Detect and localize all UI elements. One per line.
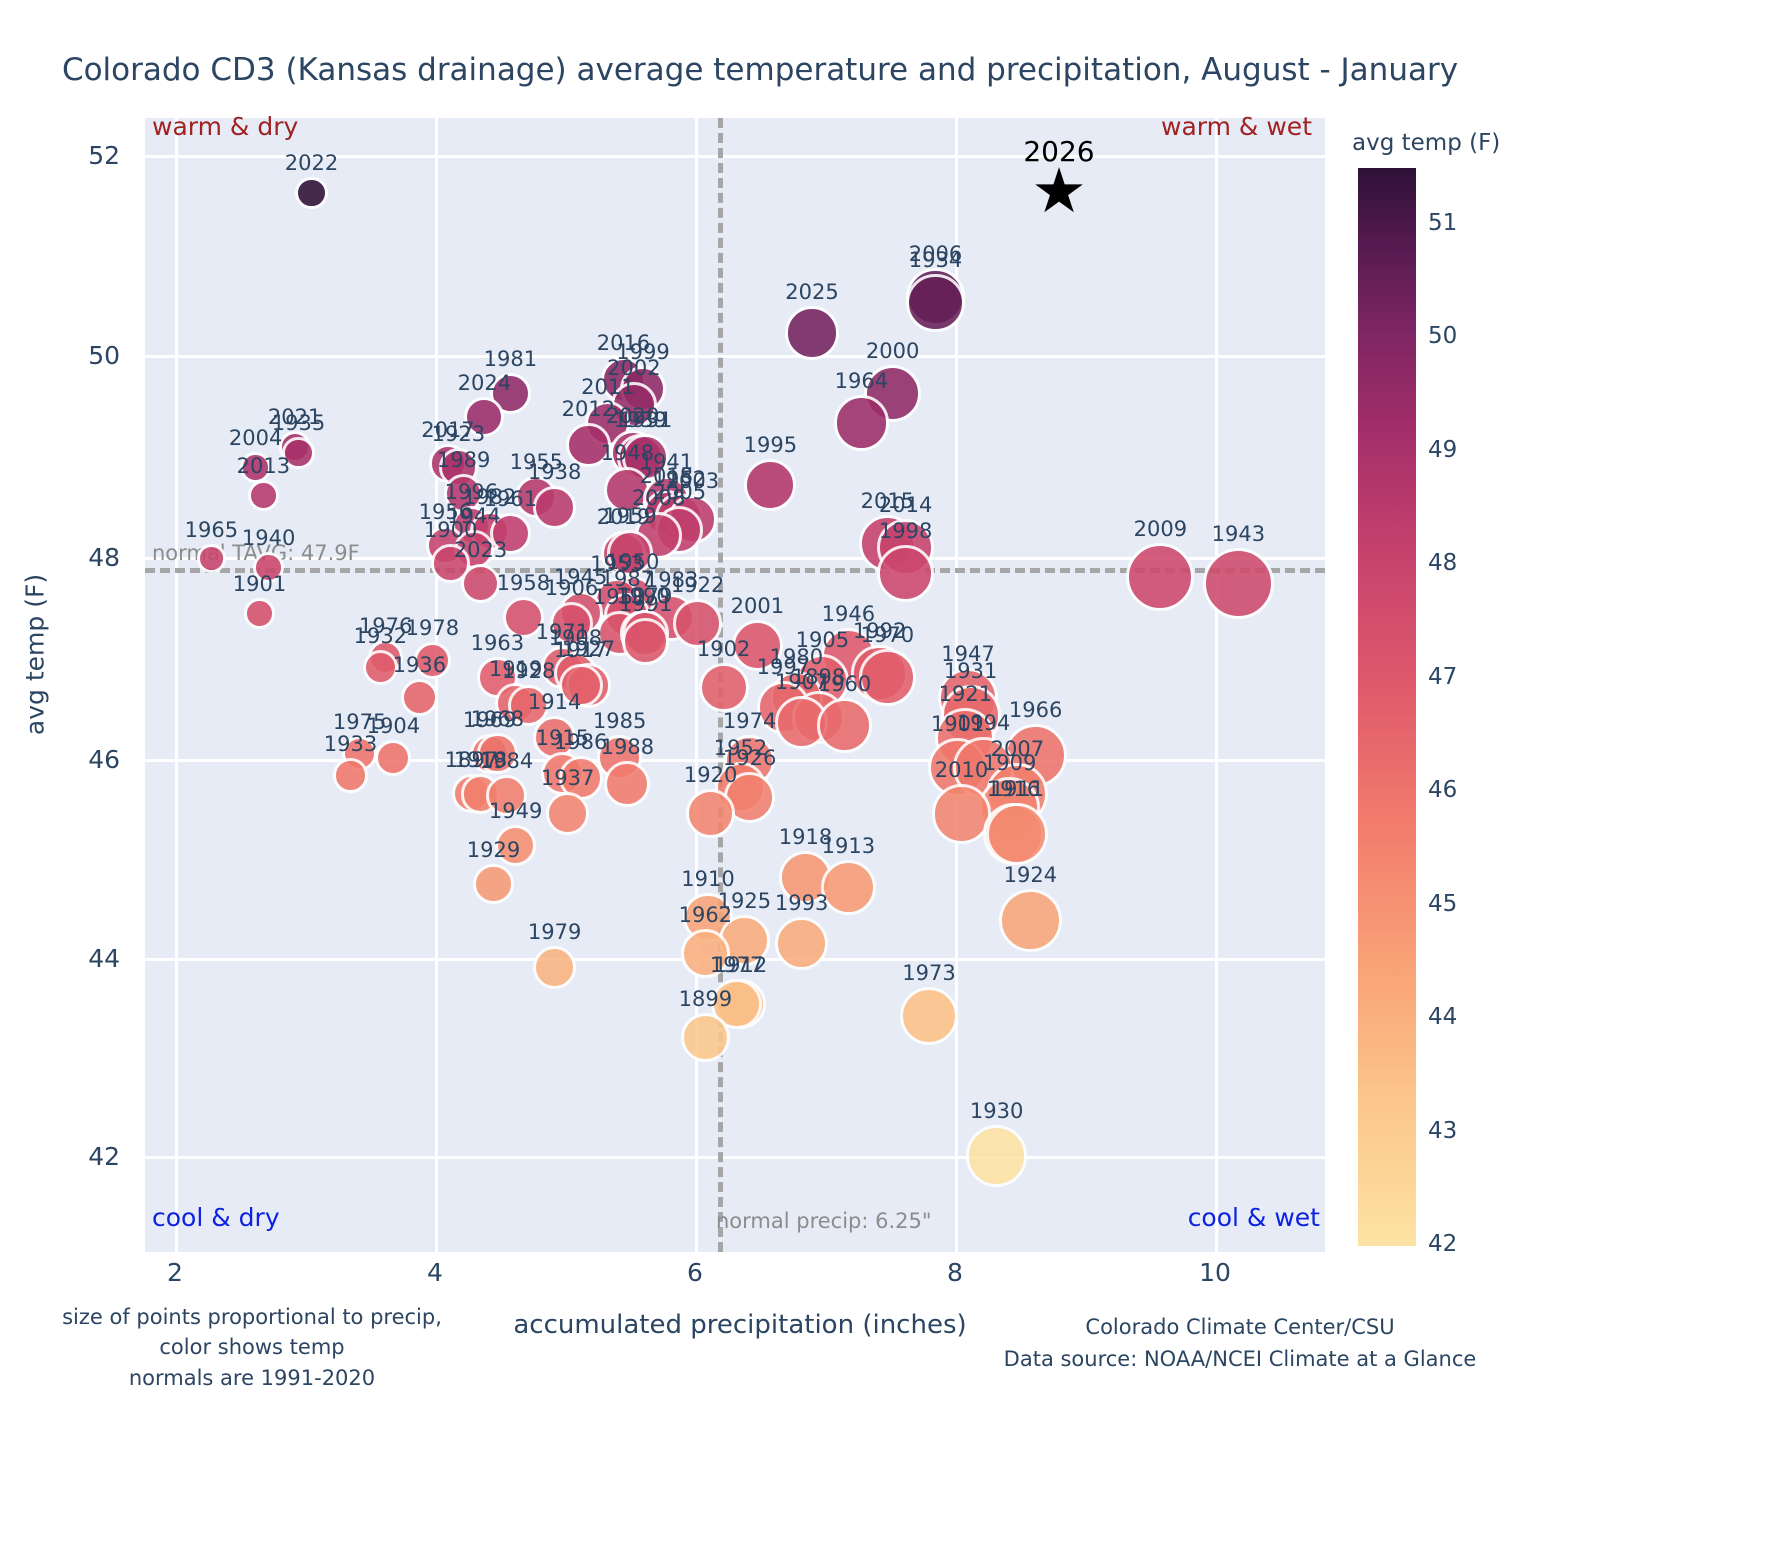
data-point-label: 2023 [454,538,507,562]
data-point-label: 1973 [902,961,955,985]
data-point-label: 1938 [528,460,581,484]
y-axis-label: avg temp (F) [21,525,50,785]
x-tick-4: 4 [395,1258,475,1287]
y-tick-50: 50 [60,341,120,370]
footnote-line: size of points proportional to precip, [62,1302,442,1332]
footnote-right: Colorado Climate Center/CSUData source: … [1000,1312,1480,1375]
data-point-label: 2004 [229,426,282,450]
colorbar-tick-47: 47 [1428,664,1457,690]
gridline-x-4 [435,118,438,1252]
data-point-label: 1906 [545,576,598,600]
data-point-label: 1931 [619,408,672,432]
colorbar-tick-45: 45 [1428,891,1457,917]
data-point-label: 1965 [185,518,238,542]
data-point-label: 1968 [471,707,524,731]
data-point-label: 1924 [1004,863,1057,887]
colorbar-tick-42: 42 [1428,1231,1457,1257]
footnote-line: Colorado Climate Center/CSU [1000,1312,1480,1344]
footnote-line: normals are 1991-2020 [62,1363,442,1393]
x-tick-2: 2 [135,1258,215,1287]
data-point[interactable] [401,679,438,716]
colorbar-tick-51: 51 [1428,210,1457,236]
gridline-y-50 [145,355,1325,358]
data-point-label: 1949 [489,799,542,823]
data-point[interactable] [699,663,749,713]
data-point-label: 1922 [671,573,724,597]
data-point-label: 1963 [471,631,524,655]
data-point-label: 1928 [502,659,555,683]
colorbar-tick-44: 44 [1428,1004,1457,1030]
data-point-label: 2022 [285,151,338,175]
data-point-label: 2011 [581,375,634,399]
data-point-label: 1995 [744,433,797,457]
quadrant-label-cool-dry: cool & dry [152,1203,280,1232]
data-point-label: 1958 [497,571,550,595]
chart-root: Colorado CD3 (Kansas drainage) average t… [0,0,1772,1564]
x-axis-label: accumulated precipitation (inches) [420,1310,1060,1340]
data-point-label: 1911 [991,777,1044,801]
colorbar-tick-46: 46 [1428,777,1457,803]
data-point-label: 2009 [1134,517,1187,541]
y-tick-42: 42 [60,1142,120,1171]
data-point[interactable] [295,177,328,210]
data-point-label: 1929 [467,838,520,862]
data-point[interactable] [906,274,965,333]
data-point-label: 1932 [354,624,407,648]
footnote-line: Data source: NOAA/NCEI Climate at a Glan… [1000,1344,1480,1376]
data-point-label: 1994 [957,711,1010,735]
data-point-label: 1993 [775,891,828,915]
x-tick-6: 6 [655,1258,735,1287]
data-point-label: 1917 [554,638,607,662]
gridline-x-10 [1215,118,1218,1252]
y-tick-52: 52 [60,141,120,170]
data-point[interactable] [834,395,890,451]
data-point[interactable] [785,306,839,360]
data-point-label: 1979 [528,920,581,944]
data-point-label: 2013 [237,454,290,478]
data-point-label: 1964 [835,369,888,393]
data-point-label: 1920 [684,763,737,787]
data-point-label: 2024 [458,371,511,395]
data-point-label: 1977 [710,953,763,977]
data-point-label: 1934 [909,248,962,272]
data-point-label: 1933 [324,732,377,756]
data-point-label: 2001 [731,594,784,618]
data-point[interactable] [248,480,279,511]
data-point-label: 1974 [723,709,776,733]
data-point[interactable] [681,1013,730,1062]
data-point[interactable] [622,618,669,665]
data-point-label: 1923 [432,422,485,446]
data-point-label: 1901 [233,572,286,596]
data-point-label: 1986 [554,730,607,754]
data-point-label: 1937 [541,766,594,790]
colorbar-tick-50: 50 [1428,323,1457,349]
data-point[interactable] [986,803,1048,865]
data-point-label: 1989 [437,448,490,472]
data-point-label: 1970 [861,623,914,647]
data-point-label: 1909 [983,751,1036,775]
data-point-label: 1998 [879,519,932,543]
data-point-label: 2025 [785,280,838,304]
normal-precip-label: normal precip: 6.25" [716,1209,932,1233]
quadrant-label-cool-wet: cool & wet [1188,1203,1320,1232]
footnote-line: color shows temp [62,1332,442,1362]
data-point[interactable] [375,740,411,776]
data-point-label: 1914 [528,690,581,714]
data-point-label: 1899 [679,987,732,1011]
colorbar-gradient [1358,168,1416,1246]
data-point-label: 2014 [879,493,932,517]
colorbar-tick-48: 48 [1428,550,1457,576]
data-point-label: 2010 [935,758,988,782]
data-point-label: 1966 [1009,698,1062,722]
x-tick-8: 8 [915,1258,995,1287]
gridline-x-6 [695,118,698,1252]
data-point[interactable] [604,761,650,807]
data-point-label: 1936 [393,653,446,677]
data-point[interactable] [473,864,513,904]
y-tick-46: 46 [60,745,120,774]
data-point[interactable] [877,545,934,602]
data-point-label: 1988 [601,735,654,759]
data-point-label: 1902 [697,637,750,661]
data-point-label: 1940 [242,526,295,550]
data-point-label: 2000 [866,339,919,363]
data-point-label: 1981 [484,347,537,371]
quadrant-label-warm-dry: warm & dry [152,112,298,141]
data-point-label: 1913 [822,834,875,858]
colorbar-tick-49: 49 [1428,437,1457,463]
data-point[interactable] [966,1125,1027,1186]
data-point[interactable] [821,860,876,915]
data-point[interactable] [333,758,367,792]
data-point[interactable] [533,946,576,989]
data-point[interactable] [1203,548,1274,619]
data-point-label: 1921 [939,682,992,706]
data-point-label: 1960 [818,672,871,696]
data-point-label: 1984 [480,749,533,773]
data-point[interactable] [244,598,275,629]
gridline-x-2 [175,118,178,1252]
data-point[interactable] [817,698,872,753]
data-point[interactable] [533,486,576,529]
data-point-label: 1943 [1212,522,1265,546]
colorbar-tick-43: 43 [1428,1118,1457,1144]
data-point[interactable] [999,889,1062,952]
highlight-star-2026[interactable]: ★ [1031,160,1087,222]
chart-title: Colorado CD3 (Kansas drainage) average t… [0,52,1520,88]
colorbar-title: avg temp (F) [1352,130,1500,156]
data-point-label: 1931 [944,659,997,683]
data-point-label: 1930 [970,1099,1023,1123]
gridline-y-42 [145,1156,1325,1159]
footnote-left: size of points proportional to precip,co… [62,1302,442,1393]
data-point-label: 1959 [603,504,656,528]
y-tick-48: 48 [60,543,120,572]
data-point[interactable] [197,544,226,573]
data-point-label: 1978 [406,616,459,640]
x-tick-10: 10 [1175,1258,1255,1287]
y-tick-44: 44 [60,944,120,973]
data-point-label: 1962 [679,903,732,927]
data-point-label: 1991 [619,592,672,616]
data-point-label: 1910 [681,867,734,891]
data-point[interactable] [900,987,958,1045]
quadrant-label-warm-wet: warm & wet [1161,112,1312,141]
